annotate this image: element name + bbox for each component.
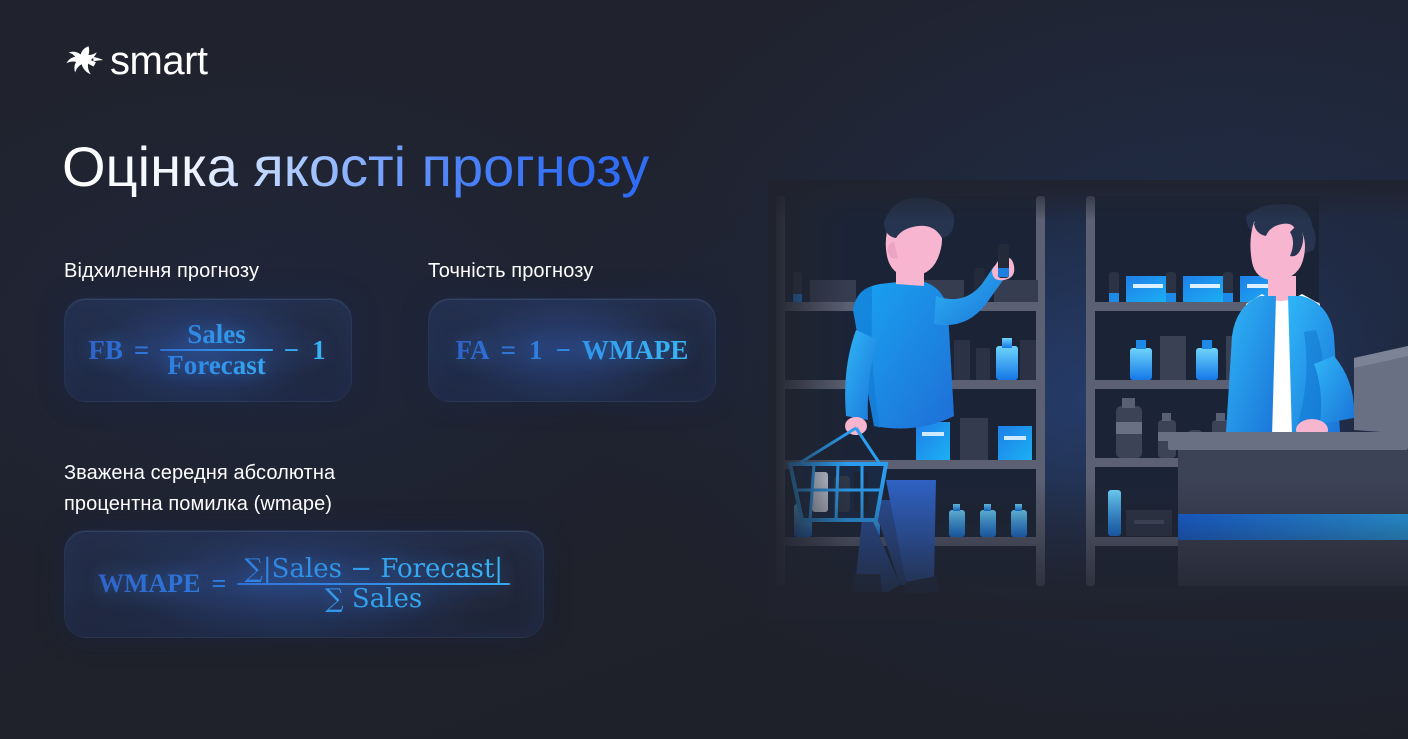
- formula-lhs: FA: [456, 337, 490, 364]
- fraction-numerator: ∑|Sales − Forecast|: [237, 555, 510, 583]
- formula-card-forecast-bias: FB = Sales Forecast − 1: [64, 298, 352, 402]
- formula-forecast-bias: FB = Sales Forecast − 1: [88, 320, 327, 380]
- caption-wmape: Зважена середня абсолютна процентна поми…: [64, 458, 335, 520]
- fraction-denominator: ∑ Sales: [318, 585, 429, 613]
- fraction: ∑|Sales − Forecast| ∑ Sales: [237, 555, 510, 613]
- formula-equals: =: [210, 571, 229, 597]
- formula-lhs: WMAPE: [98, 571, 201, 597]
- formula-wmape: WMAPE = ∑|Sales − Forecast| ∑ Sales: [98, 555, 510, 613]
- formula-lhs: FB: [88, 337, 123, 364]
- slide-root: smart Оцінка якості прогнозу Відхилення …: [0, 0, 1408, 739]
- fraction-denominator: Forecast: [160, 351, 272, 380]
- formula-equals: =: [132, 337, 151, 364]
- formula-minus: −: [282, 337, 301, 364]
- page-title: Оцінка якості прогнозу: [62, 136, 649, 198]
- fraction-numerator: Sales: [180, 320, 253, 349]
- formula-constant: 1: [310, 337, 328, 364]
- formula-constant: 1: [527, 337, 545, 364]
- caption-forecast-accuracy: Точність прогнозу: [428, 256, 593, 287]
- formula-minus: −: [554, 337, 573, 364]
- formula-equals: =: [499, 337, 518, 364]
- hummingbird-icon: [60, 38, 106, 84]
- store-illustration: [768, 180, 1408, 620]
- formula-term: WMAPE: [582, 337, 688, 364]
- formula-card-forecast-accuracy: FA = 1 − WMAPE: [428, 298, 716, 402]
- brand-logo: smart: [60, 38, 208, 84]
- fraction: Sales Forecast: [160, 320, 272, 380]
- formula-card-wmape: WMAPE = ∑|Sales − Forecast| ∑ Sales: [64, 530, 544, 638]
- formula-forecast-accuracy: FA = 1 − WMAPE: [456, 337, 689, 364]
- caption-forecast-bias: Відхилення прогнозу: [64, 256, 259, 287]
- brand-wordmark: smart: [110, 41, 208, 81]
